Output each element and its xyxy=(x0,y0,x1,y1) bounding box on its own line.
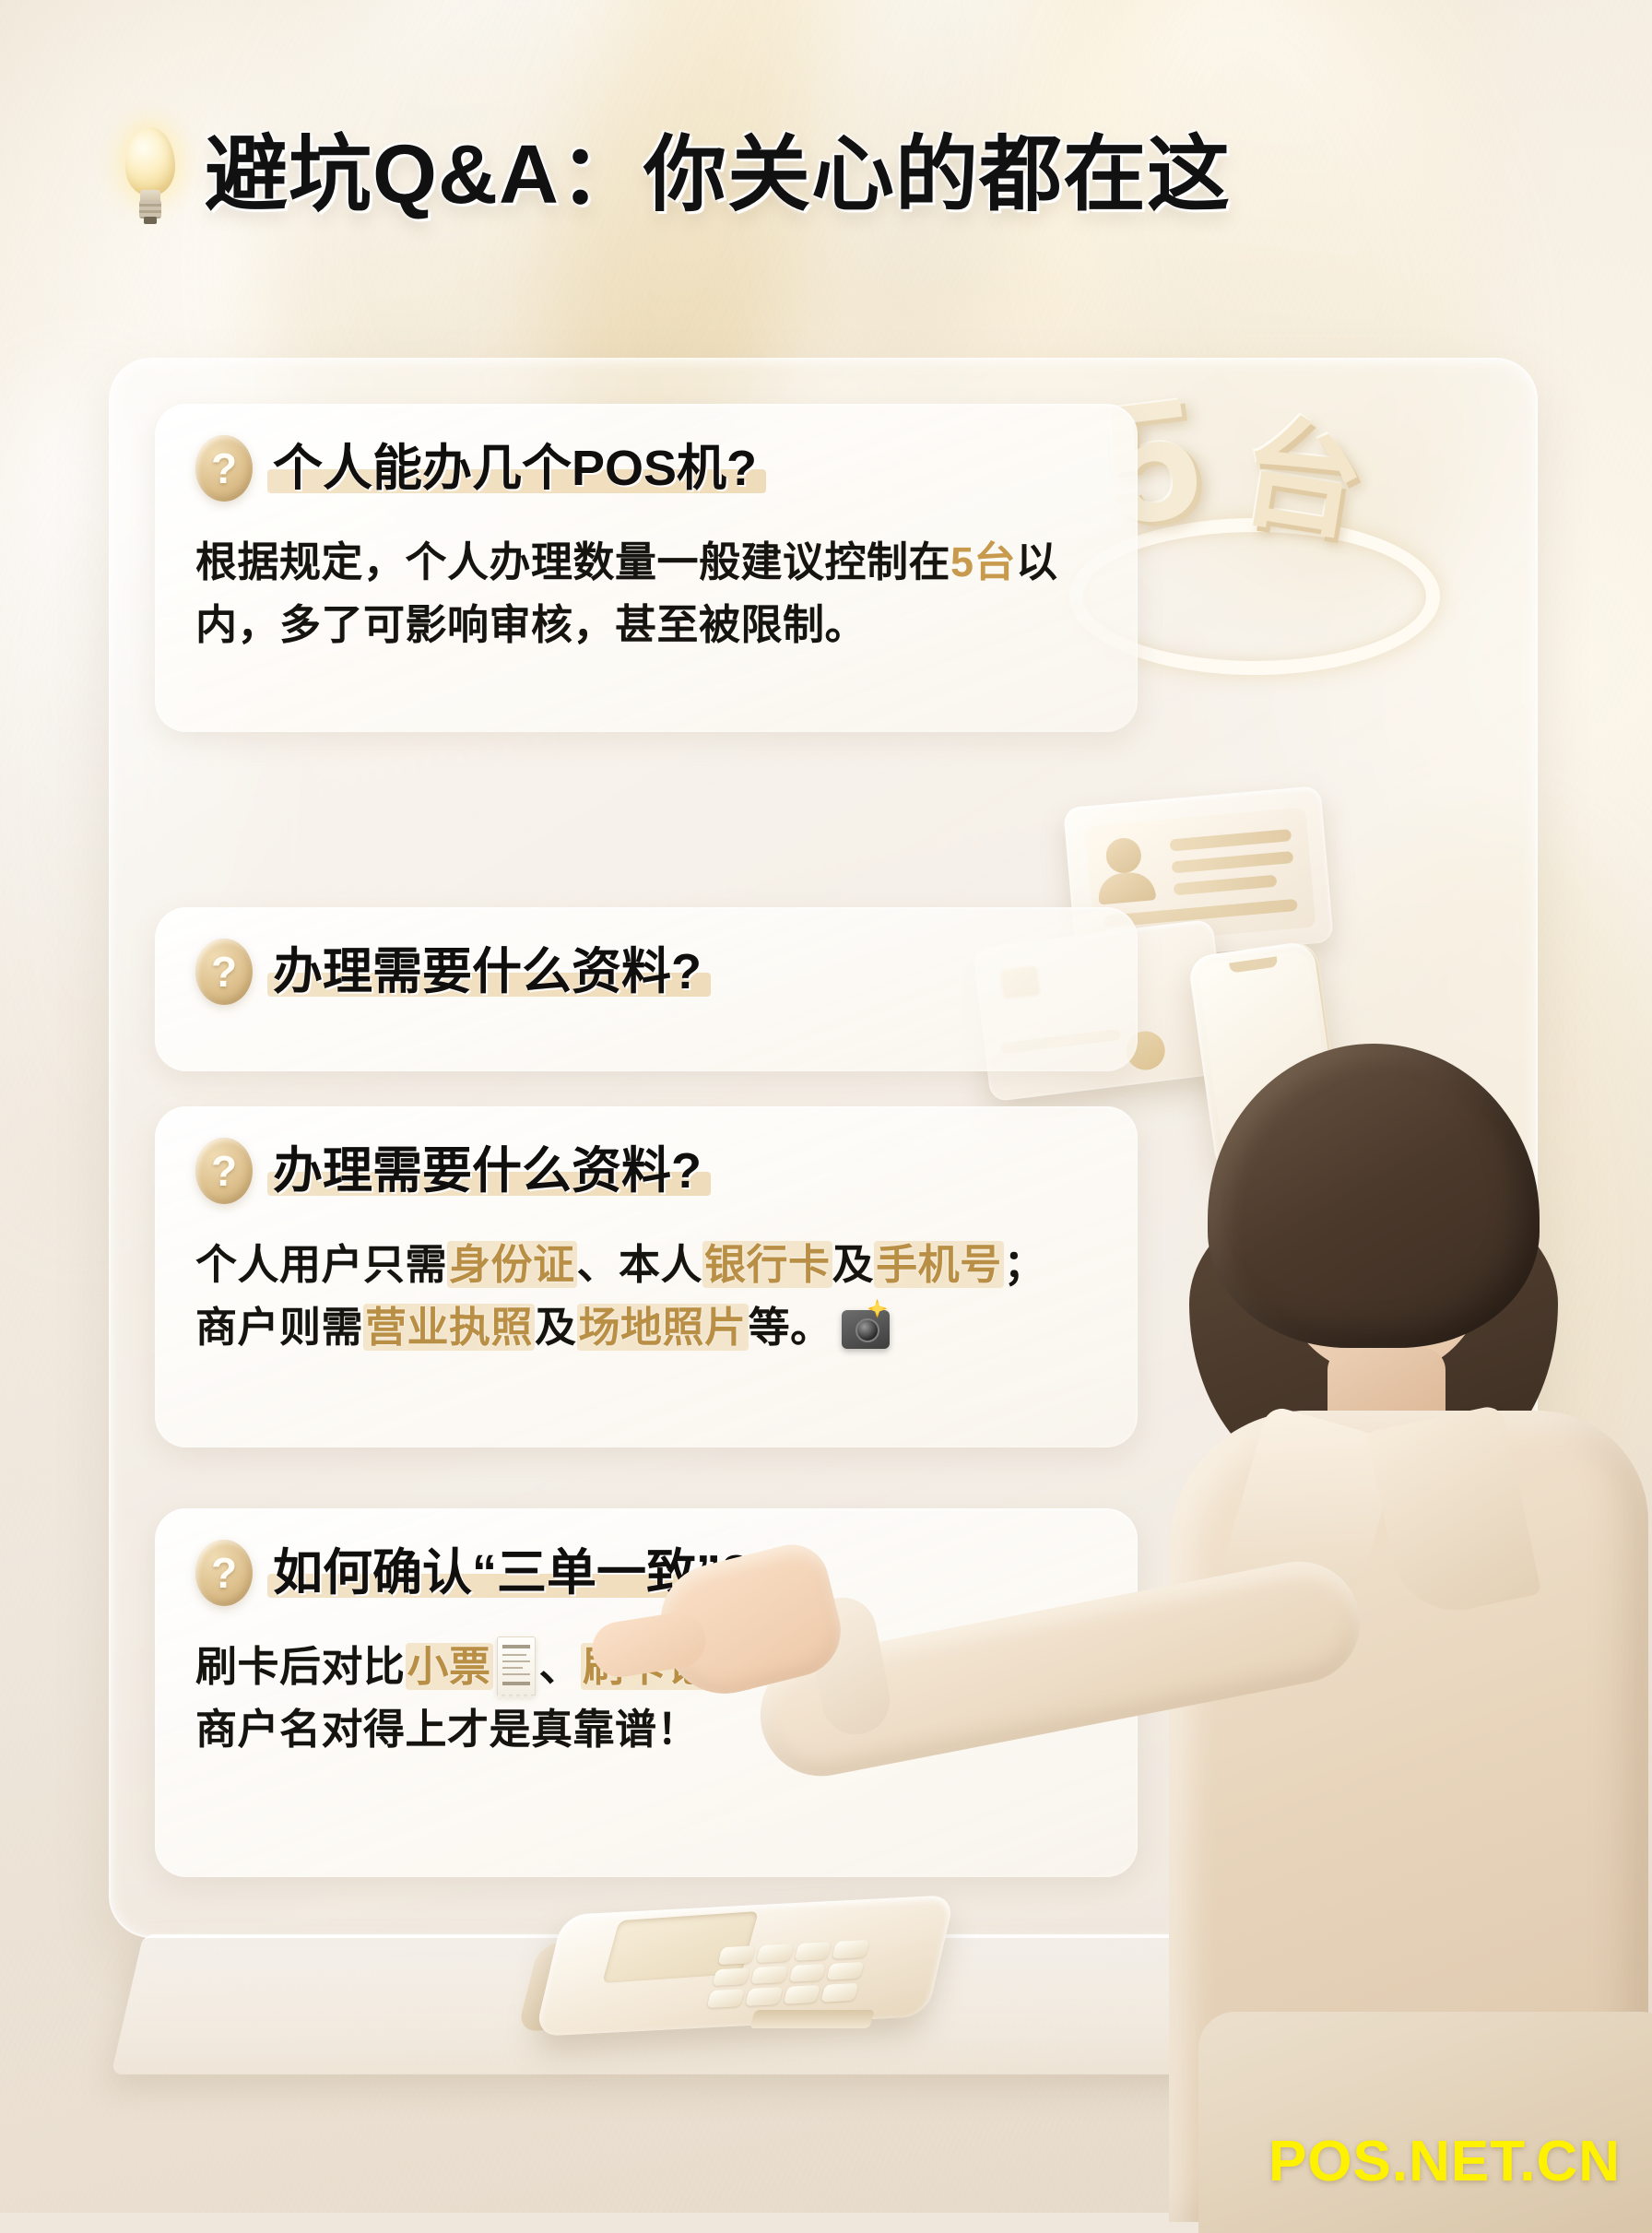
qa-question-text: 办理需要什么资料? xyxy=(273,1143,702,1199)
answer-segment: 等。 xyxy=(749,1304,832,1351)
qa-question-text: 办理需要什么资料? xyxy=(273,944,702,999)
page-title: 避坑Q&A：你关心的都在这 xyxy=(205,134,1231,217)
qa-question-title: 办理需要什么资料? xyxy=(273,945,702,998)
qa-answer-text: 根据规定，个人办理数量一般建议控制在5台以内，多了可影响审核，甚至被限制。 xyxy=(195,531,1104,657)
answer-segment-highlight: 场地照片 xyxy=(577,1304,749,1351)
qa-question-title: 如何确认“三单一致”? xyxy=(273,1546,751,1600)
watermark: POS.NET.CN xyxy=(1268,2133,1621,2191)
qa-card[interactable]: 办理需要什么资料? 个人用户只需身份证、本人银行卡及手机号； 商户则需营业执照及… xyxy=(155,1106,1138,1447)
answer-segment: 刷卡后对比 xyxy=(195,1643,406,1690)
answer-segment-highlight: 刷卡记录 xyxy=(581,1643,752,1690)
qa-answer-text: 个人用户只需身份证、本人银行卡及手机号； 商户则需营业执照及场地照片等。 xyxy=(195,1234,1104,1360)
question-mark-badge-icon xyxy=(195,435,253,502)
glass-shelf xyxy=(111,1934,1360,2074)
qa-question-row: 如何确认“三单一致”? xyxy=(195,1540,1110,1606)
answer-segment-highlight: 小票 xyxy=(406,1643,493,1690)
answer-segment: 及 xyxy=(832,1241,875,1288)
answer-segment: 及 xyxy=(535,1304,577,1351)
answer-segment: 、本人 xyxy=(577,1241,703,1288)
answer-segment-highlight: 身份证 xyxy=(447,1241,577,1288)
qa-question-row: 个人能办几个POS机? xyxy=(195,435,1110,502)
qa-question-text: 个人能办几个POS机? xyxy=(273,441,757,496)
answer-segment: 根据规定，个人办理数量一般建议控制在 xyxy=(195,538,950,585)
question-mark-badge-icon xyxy=(195,1540,253,1606)
receipt-icon xyxy=(497,1636,536,1695)
qa-question-title: 个人能办几个POS机? xyxy=(273,442,757,495)
answer-segment: 商户名对得上才是真靠谱！ xyxy=(195,1706,699,1753)
question-mark-badge-icon xyxy=(195,1138,253,1204)
answer-segment: 个人用户只需 xyxy=(195,1241,447,1288)
page-header: 避坑Q&A：你关心的都在这 xyxy=(120,111,1152,240)
answer-segment-highlight: 手机号 xyxy=(874,1241,1004,1288)
qa-card[interactable]: 个人能办几个POS机? 根据规定，个人办理数量一般建议控制在5台以内，多了可影响… xyxy=(155,404,1138,732)
answer-segment: 、 xyxy=(539,1643,582,1690)
question-mark-badge-icon xyxy=(195,939,253,1005)
qa-question-title: 办理需要什么资料? xyxy=(273,1144,702,1198)
answer-segment: ； xyxy=(1004,1241,1046,1288)
answer-segment: 和 xyxy=(752,1643,795,1690)
qa-card[interactable]: 如何确认“三单一致”? 刷卡后对比小票、刷卡记录和银行流水， 商户名对得上才是真… xyxy=(155,1508,1138,1877)
answer-segment-highlight: 银行流水 xyxy=(795,1643,966,1690)
answer-segment-highlight: 5台 xyxy=(950,538,1016,585)
qa-question-text: 如何确认“三单一致”? xyxy=(273,1545,751,1601)
answer-segment-highlight: 营业执照 xyxy=(363,1304,535,1351)
answer-segment: ， xyxy=(966,1643,1009,1690)
qa-question-row: 办理需要什么资料? xyxy=(195,1138,1110,1204)
lightbulb-icon xyxy=(120,127,181,223)
qa-question-row: 办理需要什么资料? xyxy=(195,939,1110,1005)
answer-segment-highlight: 银行卡 xyxy=(702,1241,832,1288)
qa-card[interactable]: 办理需要什么资料? xyxy=(155,907,1138,1071)
answer-segment: 商户则需 xyxy=(195,1304,363,1351)
camera-icon xyxy=(842,1310,890,1349)
qa-answer-text: 刷卡后对比小票、刷卡记录和银行流水， 商户名对得上才是真靠谱！ xyxy=(195,1636,1104,1762)
